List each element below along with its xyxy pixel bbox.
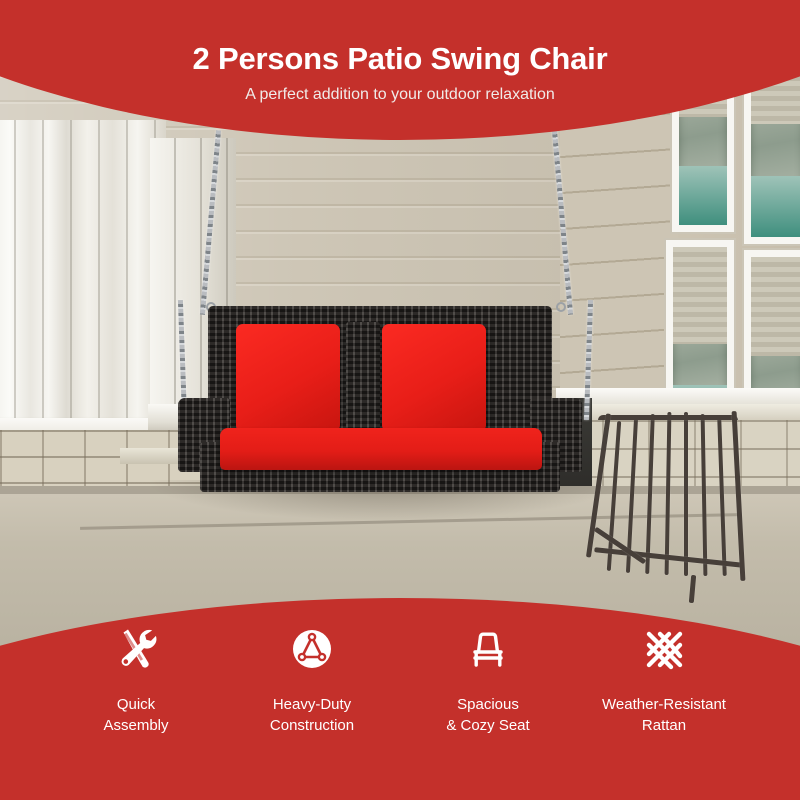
patio-swing-chair — [178, 300, 582, 492]
feature-item-quick-assembly: Quick Assembly — [48, 618, 224, 737]
feature-item-heavy-duty-construction: Heavy-Duty Construction — [224, 618, 400, 737]
window-reflection — [751, 176, 800, 237]
window-blind — [751, 257, 800, 356]
feature-item-spacious-cozy-seat: Spacious & Cozy Seat — [400, 618, 576, 737]
throw-pillow — [382, 324, 486, 432]
feature-label: Spacious & Cozy Seat — [400, 694, 576, 737]
page-title: 2 Persons Patio Swing Chair — [0, 41, 800, 77]
product-marketing-banner: 2 Persons Patio Swing Chair A perfect ad… — [0, 0, 800, 800]
feature-item-weather-resistant-rattan: Weather-Resistant Rattan — [576, 618, 752, 737]
header: 2 Persons Patio Swing Chair A perfect ad… — [0, 0, 800, 130]
wrench-screwdriver-icon — [48, 618, 224, 680]
feature-label: Quick Assembly — [48, 694, 224, 737]
chair-icon — [400, 618, 576, 680]
column-panel-lines — [0, 120, 166, 450]
feature-strip: Quick Assembly Heavy-Duty Construction — [0, 618, 800, 778]
window-reflection — [679, 166, 727, 225]
truss-triangle-in-circle-icon — [224, 618, 400, 680]
rattan-weave-icon — [576, 618, 752, 680]
porch-column — [0, 120, 166, 450]
feature-label: Heavy-Duty Construction — [224, 694, 400, 737]
swing-center-rail — [346, 322, 380, 434]
throw-pillow — [236, 324, 340, 432]
feature-label: Weather-Resistant Rattan — [576, 694, 752, 737]
page-subtitle: A perfect addition to your outdoor relax… — [0, 86, 800, 104]
metal-wire-chair — [590, 405, 755, 605]
seat-cushion — [220, 428, 542, 470]
window-blind — [673, 247, 727, 344]
